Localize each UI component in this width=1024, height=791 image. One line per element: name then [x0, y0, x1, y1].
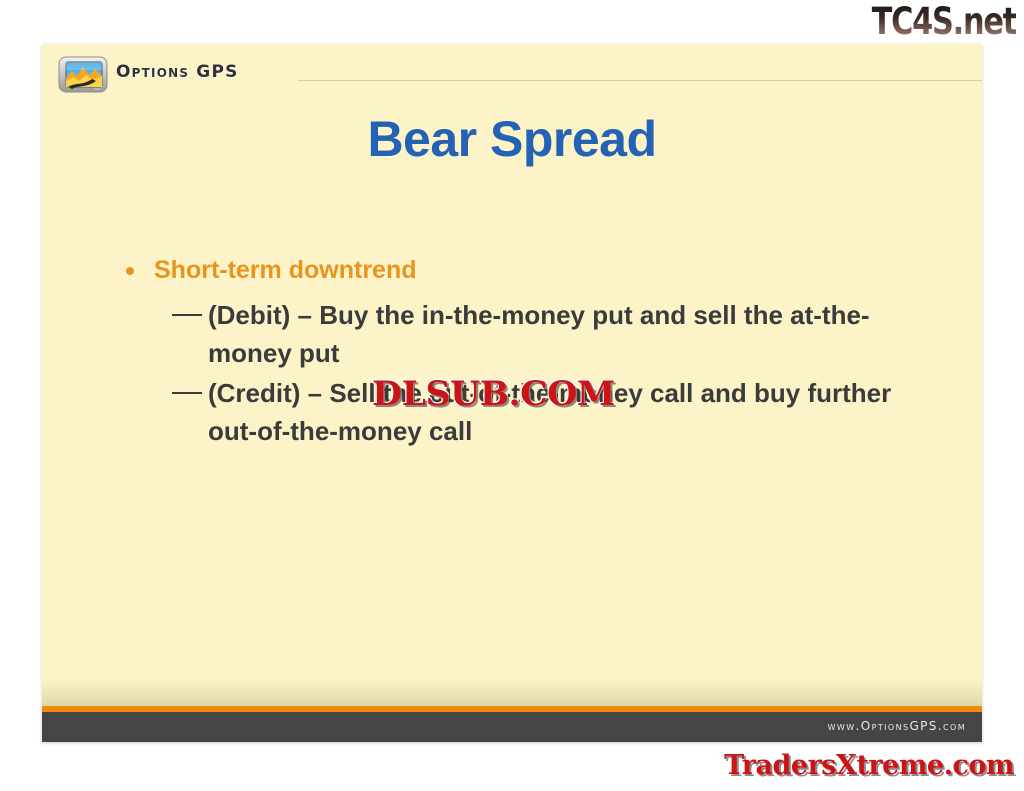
slide-header: Options GPS [42, 44, 982, 100]
tradersxtreme-watermark: TradersXtreme.com [724, 750, 1014, 781]
page-title: Bear Spread [42, 110, 982, 168]
bullet-level1-downtrend: Short-term downtrend [112, 254, 942, 286]
dlsub-watermark: DLSUB.COM [372, 374, 615, 414]
bullet-dot-icon [126, 267, 134, 275]
footer-gradient [42, 680, 982, 706]
tc4s-watermark: TC4S.net [872, 2, 1016, 42]
em-dash-icon [172, 392, 202, 394]
em-dash-icon [172, 314, 202, 316]
header-divider [298, 80, 982, 81]
footer-bar: www.OptionsGPS.com [42, 712, 982, 742]
bullet-level2-text: (Debit) – Buy the in-the-money put and s… [208, 300, 870, 368]
bullet-level1-text: Short-term downtrend [154, 256, 417, 284]
bullet-level2-debit: (Debit) – Buy the in-the-money put and s… [112, 296, 942, 372]
gps-device-icon [58, 56, 108, 94]
slide-body: Short-term downtrend (Debit) – Buy the i… [112, 254, 942, 452]
footer-url: www.OptionsGPS.com [828, 719, 966, 733]
options-gps-wordmark: Options GPS [116, 62, 239, 82]
